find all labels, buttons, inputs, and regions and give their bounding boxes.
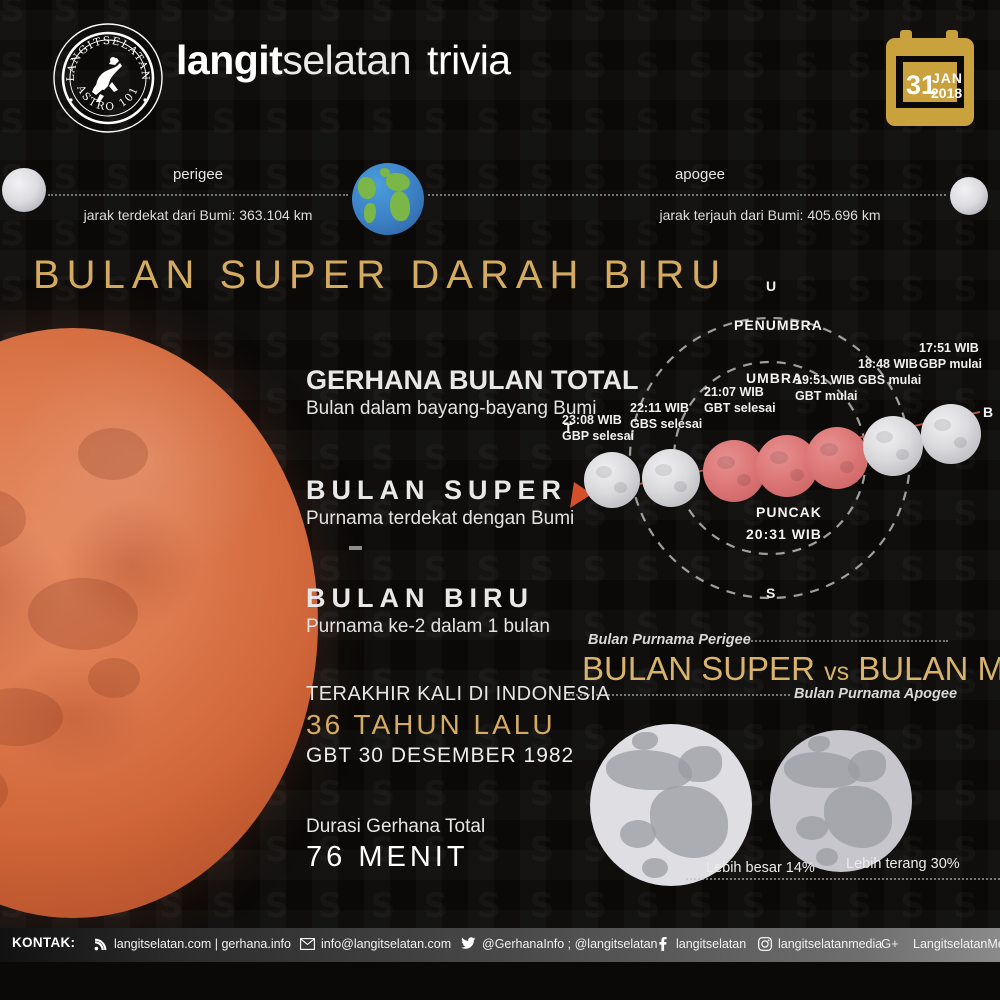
- title-left: BULAN SUPER: [582, 650, 815, 687]
- title-vs: vs: [824, 658, 849, 686]
- footer-item-label: langitselatanmedia: [778, 937, 882, 951]
- footer-item-instagram[interactable]: langitselatanmedia: [757, 936, 882, 951]
- fact-heading: BULAN BIRU: [306, 583, 550, 614]
- svg-text:ASTRO 101: ASTRO 101: [74, 83, 142, 114]
- blood-moon-image: [0, 328, 318, 918]
- eclipse-moon-phase-2: [642, 449, 700, 507]
- compare-label-size: Lebih besar 14%: [706, 860, 815, 876]
- footer-item-label: langitselatan.com | gerhana.info: [114, 937, 291, 951]
- phase-time: 19:51 WIB: [795, 373, 855, 387]
- earth-icon: [352, 163, 424, 235]
- top-dotted-rule: [748, 640, 948, 642]
- eclipse-moon-phase-5: [806, 427, 868, 489]
- phase-label-2: 22:11 WIB GBS selesai: [630, 400, 702, 432]
- eclipse-moon-phase-7: [921, 404, 981, 464]
- footer-item-googleplus[interactable]: G+ LangitselatanMedia: [881, 936, 1000, 951]
- phase-time: 23:08 WIB: [562, 413, 622, 427]
- header: LANGITSELATAN ASTRO 101 langitselatan: [0, 0, 1000, 152]
- peak-label: PUNCAK: [756, 504, 822, 520]
- apogee-sublabel: jarak terjauh dari Bumi: 405.696 km: [570, 207, 970, 223]
- footer-item-twitter[interactable]: @GerhanaInfo ; @langitselatan: [461, 936, 657, 951]
- calendar-icon: 31 JAN 2018: [884, 30, 976, 130]
- footer-item-email[interactable]: info@langitselatan.com: [300, 936, 451, 951]
- phase-event: GBT selesai: [704, 401, 776, 415]
- eclipse-moon-phase-6: [863, 416, 923, 476]
- brand-bold: langit: [176, 37, 282, 83]
- perigee-apogee-bar: perigee jarak terdekat dari Bumi: 363.10…: [0, 155, 1000, 235]
- bottom-dotted-rule: [568, 694, 790, 696]
- phase-label-3: 21:07 WIB GBT selesai: [704, 384, 776, 416]
- peak-time: 20:31 WIB: [746, 526, 822, 542]
- phase-time: 22:11 WIB: [630, 401, 689, 415]
- eclipse-path-diagram: U S T B PENUMBRA UMBRA PUNCAK 20:31 WIB: [540, 272, 1000, 612]
- minimoon-disc: [770, 730, 912, 872]
- phase-time: 18:48 WIB: [858, 357, 918, 371]
- apogee-label: apogee: [600, 166, 800, 183]
- footer-bottom-strip: [0, 962, 1000, 1000]
- decorative-dash: [349, 546, 362, 550]
- brand-title: langitselatantrivia: [176, 40, 511, 81]
- eclipse-moon-phase-1: [584, 452, 640, 508]
- apogee-moon-icon: [950, 177, 988, 215]
- brand-trivia: trivia: [427, 37, 511, 83]
- perigee-dotted-line: [48, 194, 348, 196]
- footer-item-label: LangitselatanMedia: [913, 937, 1000, 951]
- phase-event: GBP mulai: [919, 357, 982, 371]
- fact-heading: BULAN SUPER: [306, 475, 574, 506]
- phase-event: GBS mulai: [858, 373, 921, 387]
- fact-bulan-super: BULAN SUPER Purnama terdekat dengan Bumi: [306, 475, 574, 530]
- infographic-canvas: SSSSSSSSSSSSSSSSSSSSSSSSSSSSSSSSSSSSSSSS…: [0, 0, 1000, 1000]
- title-right: BULAN MINI: [858, 650, 1000, 687]
- googleplus-icon: G+: [881, 936, 907, 951]
- apogee-caption: Bulan Purnama Apogee: [794, 686, 957, 702]
- apogee-dotted-line: [428, 194, 946, 196]
- duration-block: Durasi Gerhana Total 76 MENIT: [306, 816, 485, 874]
- phase-label-6: 17:51 WIB GBP mulai: [919, 340, 982, 372]
- brand-light: selatan: [282, 37, 411, 83]
- axis-label-barat: B: [983, 404, 993, 420]
- perigee-moon-icon: [2, 168, 46, 212]
- super-vs-mini-section: Bulan Purnama Perigee BULAN SUPER vs BUL…: [560, 628, 1000, 908]
- compare-dotted-rule: [686, 878, 1000, 880]
- mail-icon: [300, 936, 315, 951]
- duration-value: 76 MENIT: [306, 841, 485, 874]
- phase-event: GBS selesai: [630, 417, 702, 431]
- phase-label-4: 19:51 WIB GBT mulai: [795, 372, 858, 404]
- perigee-label: perigee: [98, 166, 298, 183]
- svg-text:G+: G+: [881, 937, 899, 950]
- phase-time: 17:51 WIB: [919, 341, 979, 355]
- perigee-sublabel: jarak terdekat dari Bumi: 363.104 km: [48, 207, 348, 223]
- footer-item-label: info@langitselatan.com: [321, 937, 451, 951]
- phase-label-1: 23:08 WIB GBP selesai: [562, 412, 634, 444]
- calendar-month-text: JAN: [932, 70, 963, 86]
- rss-icon: [93, 936, 108, 951]
- phase-time: 21:07 WIB: [704, 385, 764, 399]
- fact-subtext: Purnama ke-2 dalam 1 bulan: [306, 616, 550, 638]
- fact-bulan-biru: BULAN BIRU Purnama ke-2 dalam 1 bulan: [306, 583, 550, 638]
- phase-event: GBT mulai: [795, 389, 858, 403]
- perigee-caption: Bulan Purnama Perigee: [588, 632, 751, 648]
- twitter-icon: [461, 936, 476, 951]
- footer-item-label: @GerhanaInfo ; @langitselatan: [482, 937, 657, 951]
- footer-item-label: langitselatan: [676, 937, 746, 951]
- footer-item-facebook[interactable]: langitselatan: [655, 936, 746, 951]
- kontak-label: KONTAK:: [12, 935, 75, 950]
- fact-subtext: Purnama terdekat dengan Bumi: [306, 508, 574, 530]
- duration-caption: Durasi Gerhana Total: [306, 816, 485, 838]
- langitselatan-logo: LANGITSELATAN ASTRO 101: [52, 22, 164, 134]
- calendar-year-text: 2018: [931, 85, 962, 101]
- footer-item-website[interactable]: langitselatan.com | gerhana.info: [93, 936, 291, 951]
- facebook-icon: [655, 936, 670, 951]
- compare-label-brightness: Lebih terang 30%: [846, 856, 960, 872]
- phase-event: GBP selesai: [562, 429, 634, 443]
- axis-label-utara: U: [766, 278, 776, 294]
- phase-label-5: 18:48 WIB GBS mulai: [858, 356, 921, 388]
- instagram-icon: [757, 936, 772, 951]
- zone-label-penumbra: PENUMBRA: [734, 317, 823, 333]
- axis-label-selatan: S: [766, 585, 775, 601]
- super-vs-mini-title: BULAN SUPER vs BULAN MINI: [582, 650, 1000, 688]
